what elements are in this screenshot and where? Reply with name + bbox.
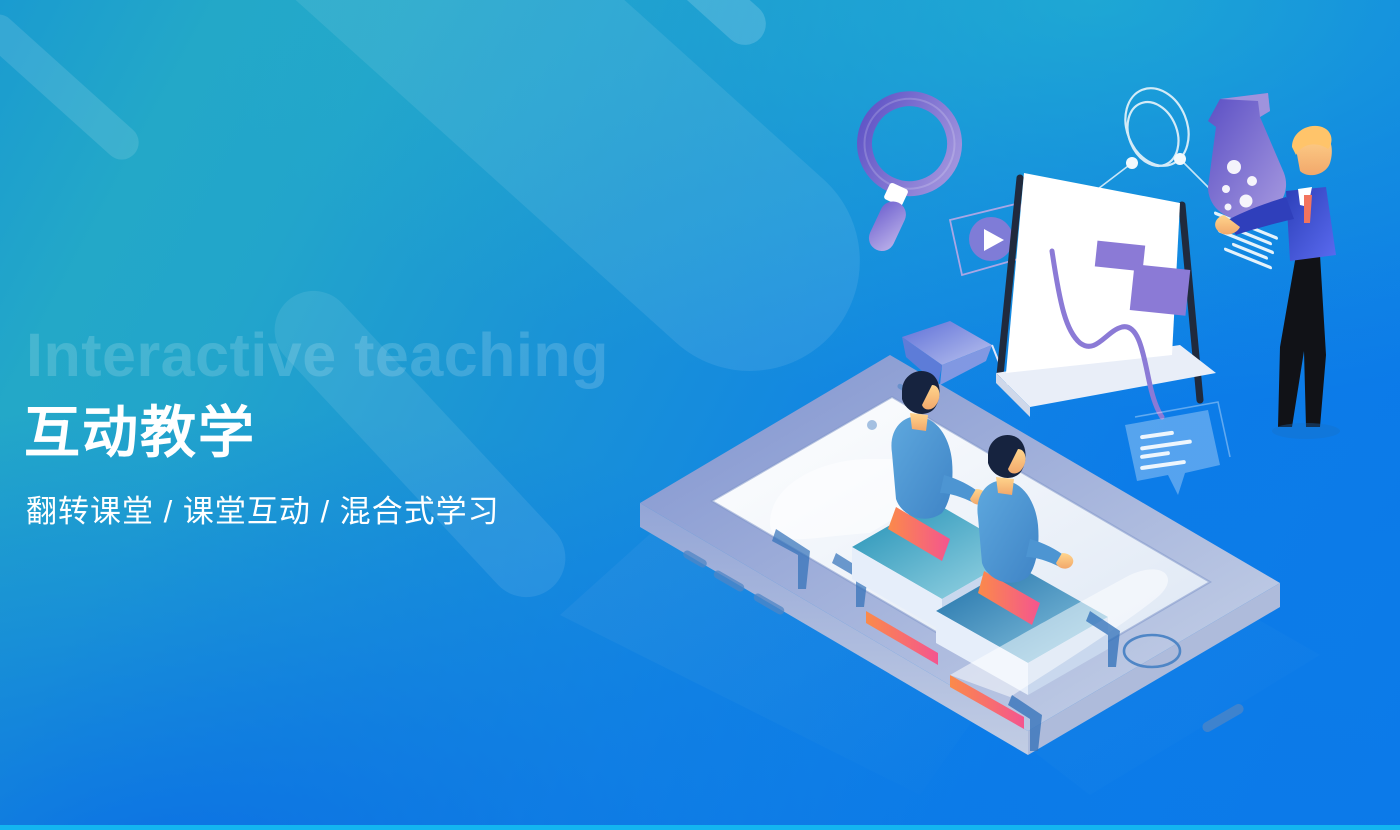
teacher-shadow — [1272, 423, 1340, 439]
ring-node-right — [1174, 153, 1186, 165]
isometric-classroom-illustration — [620, 55, 1400, 795]
watermark-text: Interactive teaching — [26, 325, 609, 386]
teacher-legs — [1278, 255, 1326, 427]
front-camera — [867, 420, 877, 430]
teacher-with-flask — [1208, 93, 1340, 439]
page-title: 互动教学 — [24, 405, 256, 461]
bottom-accent-strip — [0, 825, 1400, 830]
hero-banner: Interactive teaching 互动教学 翻转课堂 / 课堂互动 / … — [0, 0, 1400, 830]
page-subtitle: 翻转课堂 / 课堂互动 / 混合式学习 — [26, 493, 500, 530]
ring-node-left — [1126, 157, 1138, 169]
chart-legend-block-2 — [1130, 264, 1191, 316]
student-1-neck — [910, 413, 928, 431]
whiteboard-easel — [996, 173, 1216, 417]
chat-bubble-icon — [1125, 402, 1230, 495]
student-2-neck — [996, 477, 1014, 495]
magnifier-icon — [822, 86, 985, 262]
